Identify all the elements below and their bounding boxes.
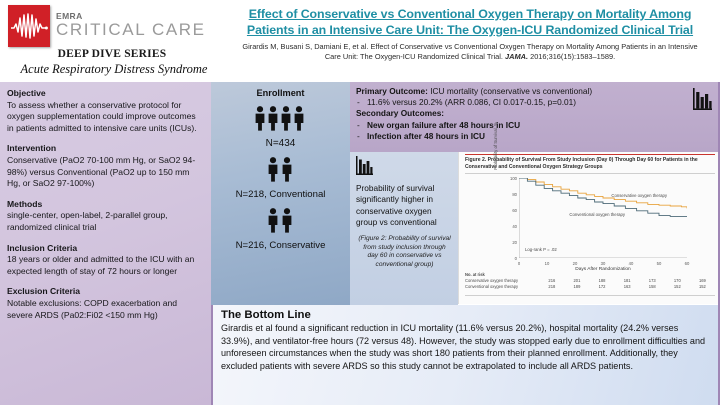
primary-outcome-label: Primary Outcome:	[356, 86, 428, 96]
survival-plot	[519, 178, 687, 258]
series-subject: Acute Respiratory Distress Syndrome	[4, 62, 224, 77]
log-rank-annotation: Log-rank P = .02	[525, 247, 557, 252]
survival-note-panel: Probability of survival significantly hi…	[350, 152, 458, 305]
logo-wordmark: EMRA CRITICAL CARE	[56, 12, 206, 41]
secondary-outcome-text: Infection after 48 hours in ICU	[367, 131, 485, 141]
brand-block: EMRA CRITICAL CARE DEEP DIVE SERIES Acut…	[4, 2, 216, 80]
risk-table: No. at risk Conservative oxygen therapy2…	[465, 272, 717, 290]
section-body: single-center, open-label, 2-parallel gr…	[7, 210, 203, 233]
figure-bottom-rule	[465, 295, 715, 296]
y-tick-label: 40	[509, 224, 517, 229]
secondary-outcomes-label: Secondary Outcomes:	[356, 108, 714, 119]
section-body: Notable exclusions: COPD exacerbation an…	[7, 298, 203, 321]
spacer	[7, 134, 203, 143]
primary-outcome-value: ICU mortality (conservative vs conventio…	[430, 86, 592, 96]
section-intervention: Intervention Conservative (PaO2 70-100 m…	[7, 143, 203, 189]
x-tick-label: 20	[571, 261, 579, 266]
people-group-icon	[211, 156, 350, 182]
x-tick-label: 30	[599, 261, 607, 266]
series-title: DEEP DIVE SERIES	[4, 48, 220, 60]
risk-table-grid: Conservative oxygen therapy2162011881811…	[465, 278, 715, 290]
risk-table-row: Conventional oxygen therapy2181891721631…	[465, 284, 715, 290]
enrollment-conventional-label: N=218, Conventional	[211, 189, 350, 200]
plot-svg	[519, 178, 687, 258]
header: EMRA CRITICAL CARE DEEP DIVE SERIES Acut…	[0, 0, 720, 82]
section-heading: Inclusion Criteria	[7, 243, 203, 255]
survival-note-caption: (Figure 2: Probability of survival from …	[356, 235, 453, 269]
section-heading: Methods	[7, 199, 203, 211]
x-tick-label: 40	[627, 261, 635, 266]
org-name: CRITICAL CARE	[56, 21, 206, 38]
series-label-conservative: Conservative oxygen therapy	[611, 193, 667, 198]
citation: Girardis M, Busani S, Damiani E, et al. …	[222, 42, 718, 62]
risk-row-value: 152	[665, 284, 690, 290]
logo-row: EMRA CRITICAL CARE	[8, 5, 206, 47]
enrollment-conservative-label: N=216, Conservative	[211, 240, 350, 251]
spacer	[7, 190, 203, 199]
infographic-page: EMRA CRITICAL CARE DEEP DIVE SERIES Acut…	[0, 0, 720, 405]
risk-row-value: 163	[615, 284, 640, 290]
page-title-line1: Effect of Conservative vs Conventional O…	[222, 6, 718, 22]
enrollment-total-label: N=434	[211, 138, 350, 149]
section-body: Conservative (PaO2 70-100 mm Hg, or SaO2…	[7, 155, 203, 190]
outcomes-panel: Primary Outcome: ICU mortality (conserva…	[350, 82, 720, 152]
risk-row-value: 189	[564, 284, 589, 290]
primary-outcome-row: Primary Outcome: ICU mortality (conserva…	[356, 86, 714, 97]
figure-caption: Figure 2. Probability of Survival From S…	[465, 157, 713, 171]
risk-row-value: 172	[589, 284, 614, 290]
enrollment-panel: Enrollment N=434 N=218, Conventional	[211, 82, 350, 305]
section-objective: Objective To assess whether a conservati…	[7, 88, 203, 134]
y-axis-label: Probability of Survival, %	[493, 110, 498, 182]
figure-rule	[465, 154, 715, 155]
section-exclusion-criteria: Exclusion Criteria Notable exclusions: C…	[7, 286, 203, 321]
x-tick-label: 10	[543, 261, 551, 266]
secondary-outcomes-label-text: Secondary Outcomes:	[356, 108, 444, 118]
x-tick-label: 60	[683, 261, 691, 266]
figure-2-panel: Figure 2. Probability of Survival From S…	[458, 152, 720, 304]
section-body: 18 years or older and admitted to the IC…	[7, 254, 203, 277]
figure-separator	[465, 173, 715, 174]
section-heading: Intervention	[7, 143, 203, 155]
secondary-outcome-bullet: New organ failure after 48 hours in ICU	[356, 120, 714, 131]
bottom-line-body: Girardis et al found a significant reduc…	[221, 322, 711, 372]
series-label-conventional: Conventional oxygen therapy	[569, 212, 625, 217]
primary-outcome-bullet: 11.6% versus 20.2% (ARR 0.086, CI 0.017-…	[356, 97, 714, 108]
people-group-icon	[211, 105, 350, 131]
x-tick-label: 0	[515, 261, 523, 266]
risk-row-value: 218	[539, 284, 564, 290]
section-methods: Methods single-center, open-label, 2-par…	[7, 199, 203, 234]
y-tick-label: 80	[509, 192, 517, 197]
y-tick-label: 20	[509, 240, 517, 245]
x-tick-label: 50	[655, 261, 663, 266]
risk-row-value: 158	[640, 284, 665, 290]
risk-table-title: No. at risk	[465, 272, 717, 277]
org-short: EMRA	[56, 12, 206, 21]
bar-chart-icon	[693, 88, 712, 115]
section-inclusion-criteria: Inclusion Criteria 18 years or older and…	[7, 243, 203, 278]
spacer	[7, 277, 203, 286]
people-group-icon	[211, 207, 350, 233]
risk-row-name: Conventional oxygen therapy	[465, 284, 539, 290]
bottom-line-panel: The Bottom Line Girardis et al found a s…	[211, 305, 720, 405]
survival-note-text: Probability of survival significantly hi…	[356, 183, 453, 228]
title-block: Effect of Conservative vs Conventional O…	[222, 6, 718, 62]
y-tick-label: 60	[509, 208, 517, 213]
ekg-waveform-icon	[8, 5, 50, 47]
bottom-line-title: The Bottom Line	[221, 309, 711, 321]
study-details-column: Objective To assess whether a conservati…	[0, 82, 211, 405]
secondary-outcome-bullet: Infection after 48 hours in ICU	[356, 131, 714, 142]
y-tick-label: 100	[509, 176, 517, 181]
section-heading: Objective	[7, 88, 203, 100]
page-title-line2: Patients in an Intensive Care Unit: The …	[222, 22, 718, 38]
citation-part2: 2016;316(15):1583–1589.	[528, 52, 615, 61]
section-body: To assess whether a conservative protoco…	[7, 100, 203, 135]
spacer	[7, 234, 203, 243]
risk-row-value: 152	[690, 284, 715, 290]
enrollment-title: Enrollment	[211, 88, 350, 98]
bar-chart-icon	[356, 156, 453, 180]
citation-part1: Girardis M, Busani S, Damiani E, et al. …	[242, 42, 697, 61]
section-heading: Exclusion Criteria	[7, 286, 203, 298]
citation-journal: JAMA.	[505, 52, 528, 61]
